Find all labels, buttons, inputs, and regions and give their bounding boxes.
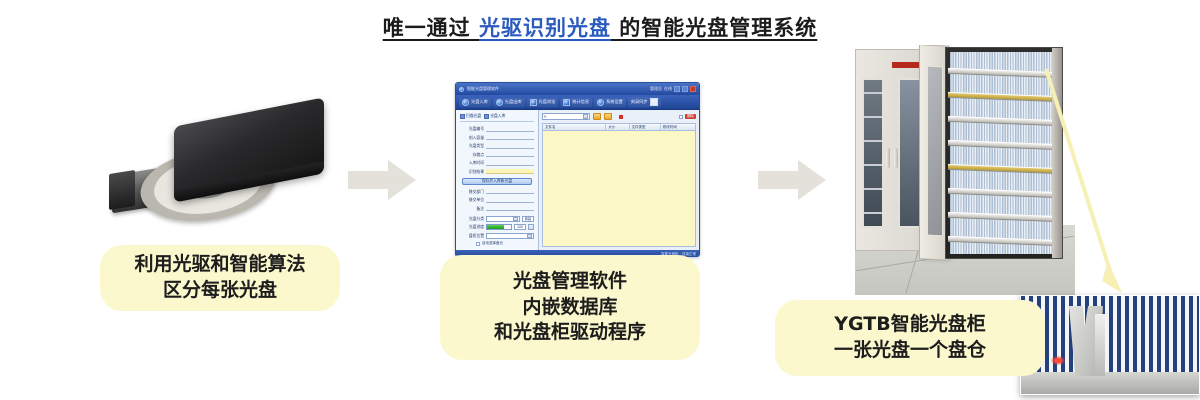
app-logo-icon <box>459 87 464 92</box>
tab-import-disc[interactable]: 光盘入库 <box>484 113 505 119</box>
file-list[interactable] <box>542 130 696 247</box>
arrow-shaft <box>348 171 390 189</box>
software-tabs: 扫描光盘 光盘入库 <box>460 113 534 122</box>
checkbox-label: 自动选择盘仓 <box>482 241 503 246</box>
field-input[interactable] <box>486 127 534 132</box>
cabinet-handle-left[interactable] <box>886 148 890 168</box>
record-icon[interactable] <box>619 115 623 119</box>
maximize-button[interactable] <box>682 86 688 92</box>
callout-left-line-1: 利用光驱和智能算法 <box>134 252 305 278</box>
disc-category-select[interactable] <box>486 216 520 222</box>
toolbar-label: 系统设置 <box>606 99 623 105</box>
field-label: 移交部门 <box>460 189 484 195</box>
checkbox-icon <box>476 242 480 246</box>
callout-middle: 光盘管理软件 内嵌数据库 和光盘柜驱动程序 <box>440 255 700 360</box>
progress-value: 100 <box>514 224 526 230</box>
callout-middle-line-1: 光盘管理软件 <box>513 269 627 295</box>
chevron-down-icon <box>513 217 518 221</box>
progress-bar <box>486 224 512 230</box>
callout-middle-line-2: 内嵌数据库 <box>522 295 617 321</box>
field-disc-progress: 光盘进度 100 <box>460 224 534 230</box>
optical-drive-photo <box>112 112 328 220</box>
chevron-down-icon <box>527 234 532 238</box>
gear-icon <box>597 99 604 106</box>
tab-label: 扫描光盘 <box>466 113 481 119</box>
software-left-panel: 扫描光盘 光盘入库 光盘编号 刻入容量 光盘类型 存储点 <box>456 110 539 250</box>
flow-arrow-1-icon <box>348 160 418 200</box>
arrow-head <box>388 160 416 200</box>
software-right-panel: F: 删除 文件名 大小 文件类型 修改时间 <box>539 110 699 250</box>
cabinet-door-glass <box>927 66 943 237</box>
scan-icon <box>460 114 465 119</box>
field-input[interactable] <box>486 189 534 194</box>
callout-right-line-1: YGTB智能光盘柜 <box>834 312 985 338</box>
field-label: 光盘编号 <box>460 126 484 132</box>
field-recognition-result[interactable]: 识别结果 <box>460 169 534 175</box>
toolbar-button-disc-browse[interactable]: 光盘浏览 <box>527 98 559 107</box>
zoom-pointer-arrow-icon <box>1030 55 1160 305</box>
field-input[interactable] <box>486 135 534 140</box>
software-screenshot: 智能光盘管理软件 管理员 在线 光盘入库 光盘出库 光盘浏览 统计信息 系统设置 <box>455 82 700 257</box>
tab-scan-disc[interactable]: 扫描光盘 <box>460 113 481 119</box>
disc-in-icon <box>462 99 469 106</box>
field-label: 盘柜位置 <box>460 233 484 239</box>
app-title: 智能光盘管理软件 <box>467 86 499 92</box>
arrow-shaft <box>758 171 800 189</box>
laser-indicator-icon <box>1051 356 1065 365</box>
stats-icon <box>563 99 570 106</box>
field-disc-category[interactable]: 光盘分类 新建 <box>460 216 534 222</box>
callout-left: 利用光驱和智能算法 区分每张光盘 <box>100 245 340 311</box>
close-button[interactable] <box>690 86 696 92</box>
file-list-header: 文件名 大小 文件类型 修改时间 <box>542 123 696 130</box>
cabinet-handle-right[interactable] <box>894 148 898 168</box>
import-icon <box>484 114 489 119</box>
toolbar-button-disc-in[interactable]: 光盘入库 <box>459 98 491 107</box>
callout-left-line-2: 区分每张光盘 <box>163 278 277 304</box>
field-input[interactable] <box>486 206 534 211</box>
arrow-head <box>798 160 826 200</box>
field-label: 识别结果 <box>460 169 484 175</box>
callout-middle-line-3: 和光盘柜驱动程序 <box>494 320 646 346</box>
page-title-highlight: 光驱识别光盘 <box>479 16 611 40</box>
page-title-part2: 的智能光盘管理系统 <box>611 16 817 40</box>
field-input[interactable] <box>486 144 534 149</box>
field-transfer-dept[interactable]: 移交部门 <box>460 189 534 195</box>
new-category-button[interactable]: 新建 <box>522 216 534 222</box>
field-input[interactable] <box>486 152 534 157</box>
field-input[interactable] <box>486 161 534 166</box>
toolbar-label: 光盘出库 <box>505 99 522 105</box>
tab-label: 光盘入库 <box>490 113 505 119</box>
drive-tray-lip <box>109 170 135 210</box>
toolbar-button-burn-sync[interactable]: 刻录同步 <box>628 97 661 107</box>
field-label: 入库时间 <box>460 160 484 166</box>
save-import-button[interactable]: 保存并入库新光盘 <box>462 178 532 185</box>
toolbar-button-disc-out[interactable]: 光盘出库 <box>493 98 525 107</box>
gripper-arm-post <box>1095 314 1105 376</box>
folder-icon[interactable] <box>604 113 612 120</box>
software-titlebar: 智能光盘管理软件 管理员 在线 <box>456 83 699 95</box>
callout-right: YGTB智能光盘柜 一张光盘一个盘仓 <box>775 300 1045 376</box>
field-disc-type[interactable]: 光盘类型 <box>460 143 534 149</box>
field-import-time[interactable]: 入库时间 <box>460 160 534 166</box>
callout-right-line-2: 一张光盘一个盘仓 <box>834 338 986 364</box>
field-cabinet-slot[interactable]: 盘柜位置 <box>460 233 534 239</box>
disc-browse-icon <box>530 99 537 106</box>
page-title-part1: 唯一通过 <box>383 16 479 40</box>
toolbar-label: 光盘浏览 <box>539 99 556 105</box>
path-value: F: <box>544 115 547 119</box>
progress-stepper[interactable] <box>528 224 534 230</box>
auto-select-slot-checkbox[interactable]: 自动选择盘仓 <box>476 241 534 246</box>
field-input[interactable] <box>486 198 534 203</box>
slot-base-rail <box>1021 372 1200 394</box>
titlebar-status-label: 在线 <box>664 86 672 92</box>
titlebar-user-label: 管理员 <box>650 86 662 92</box>
field-disc-id[interactable]: 光盘编号 <box>460 126 534 132</box>
field-input-highlighted[interactable] <box>486 169 534 174</box>
field-storage-point[interactable]: 存储点 <box>460 152 534 158</box>
select-all-checkbox[interactable] <box>679 115 683 119</box>
folder-open-icon[interactable] <box>593 113 601 120</box>
toolbar-label: 统计信息 <box>572 99 589 105</box>
save-import-button-label: 保存并入库新光盘 <box>482 178 512 184</box>
cabinet-label-tag <box>892 62 922 68</box>
field-label: 移交单位 <box>460 197 484 203</box>
field-label: 光盘进度 <box>460 224 484 230</box>
field-transfer-unit[interactable]: 移交单位 <box>460 197 534 203</box>
burn-sync-icon <box>650 98 658 106</box>
toolbar-button-settings[interactable]: 系统设置 <box>594 98 626 107</box>
chevron-down-icon <box>583 114 588 119</box>
software-toolbar: 光盘入库 光盘出库 光盘浏览 统计信息 系统设置 刻录同步 <box>456 95 699 110</box>
field-label: 存储点 <box>460 152 484 158</box>
field-remark[interactable]: 备注 <box>460 206 534 212</box>
cabinet-slot-select[interactable] <box>486 233 534 239</box>
path-select[interactable]: F: <box>542 113 590 120</box>
file-browser-toolbar-right: 删除 <box>679 114 696 119</box>
toolbar-button-stats[interactable]: 统计信息 <box>560 98 592 107</box>
delete-button[interactable]: 删除 <box>685 114 696 119</box>
field-capacity[interactable]: 刻入容量 <box>460 135 534 141</box>
page-title: 唯一通过 光驱识别光盘 的智能光盘管理系统 <box>0 12 1200 42</box>
software-body: 扫描光盘 光盘入库 光盘编号 刻入容量 光盘类型 存储点 <box>456 110 699 250</box>
field-label: 刻入容量 <box>460 135 484 141</box>
disc-out-icon <box>496 99 503 106</box>
file-browser-toolbar: F: 删除 <box>542 113 696 120</box>
minimize-button[interactable] <box>674 86 680 92</box>
flow-arrow-2-icon <box>758 160 828 200</box>
cabinet-glass-left <box>862 78 884 228</box>
field-label: 光盘类型 <box>460 143 484 149</box>
toolbar-label: 光盘入库 <box>471 99 488 105</box>
field-label: 备注 <box>460 206 484 212</box>
titlebar-right-group: 管理员 在线 <box>650 86 696 92</box>
field-label: 光盘分类 <box>460 216 484 222</box>
toolbar-label: 刻录同步 <box>631 99 648 105</box>
disc-slot-closeup-photo <box>1020 295 1200 395</box>
